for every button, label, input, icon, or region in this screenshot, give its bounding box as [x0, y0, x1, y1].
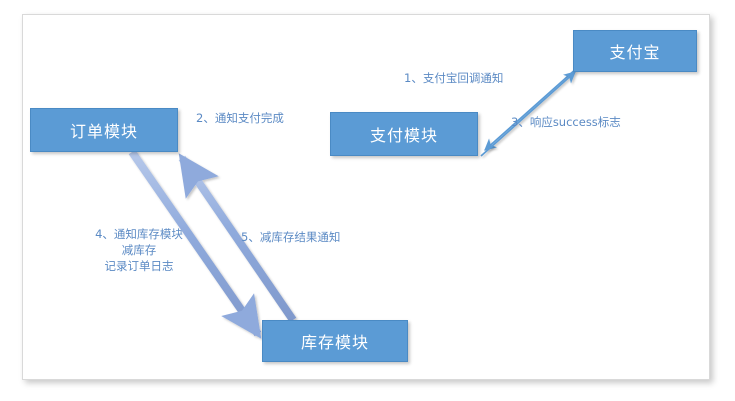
edge-3-label: 3、响应success标志: [511, 114, 621, 130]
diagram-stage: 支付宝 订单模块 支付模块 库存模块 1、支付宝回调通知 3、响应success…: [0, 0, 735, 401]
edge-4-label-line-3: 记录订单日志: [73, 258, 205, 274]
node-order-module[interactable]: 订单模块: [30, 108, 178, 152]
node-payment-module-label: 支付模块: [370, 122, 438, 146]
edge-1-label: 1、支付宝回调通知: [404, 70, 503, 86]
node-alipay[interactable]: 支付宝: [573, 30, 697, 72]
node-inventory-module[interactable]: 库存模块: [262, 320, 408, 362]
edge-4-label-line-2: 减库存: [73, 242, 205, 258]
edge-4-label-line-1: 4、通知库存模块: [73, 226, 205, 242]
node-inventory-module-label: 库存模块: [301, 329, 369, 353]
edge-2-label: 2、通知支付完成: [196, 110, 284, 126]
node-payment-module[interactable]: 支付模块: [330, 112, 478, 156]
edge-5-label: 5、减库存结果通知: [241, 229, 340, 245]
node-alipay-label: 支付宝: [609, 39, 660, 63]
edge-4-label: 4、通知库存模块 减库存 记录订单日志: [73, 226, 205, 274]
node-order-module-label: 订单模块: [70, 118, 138, 142]
